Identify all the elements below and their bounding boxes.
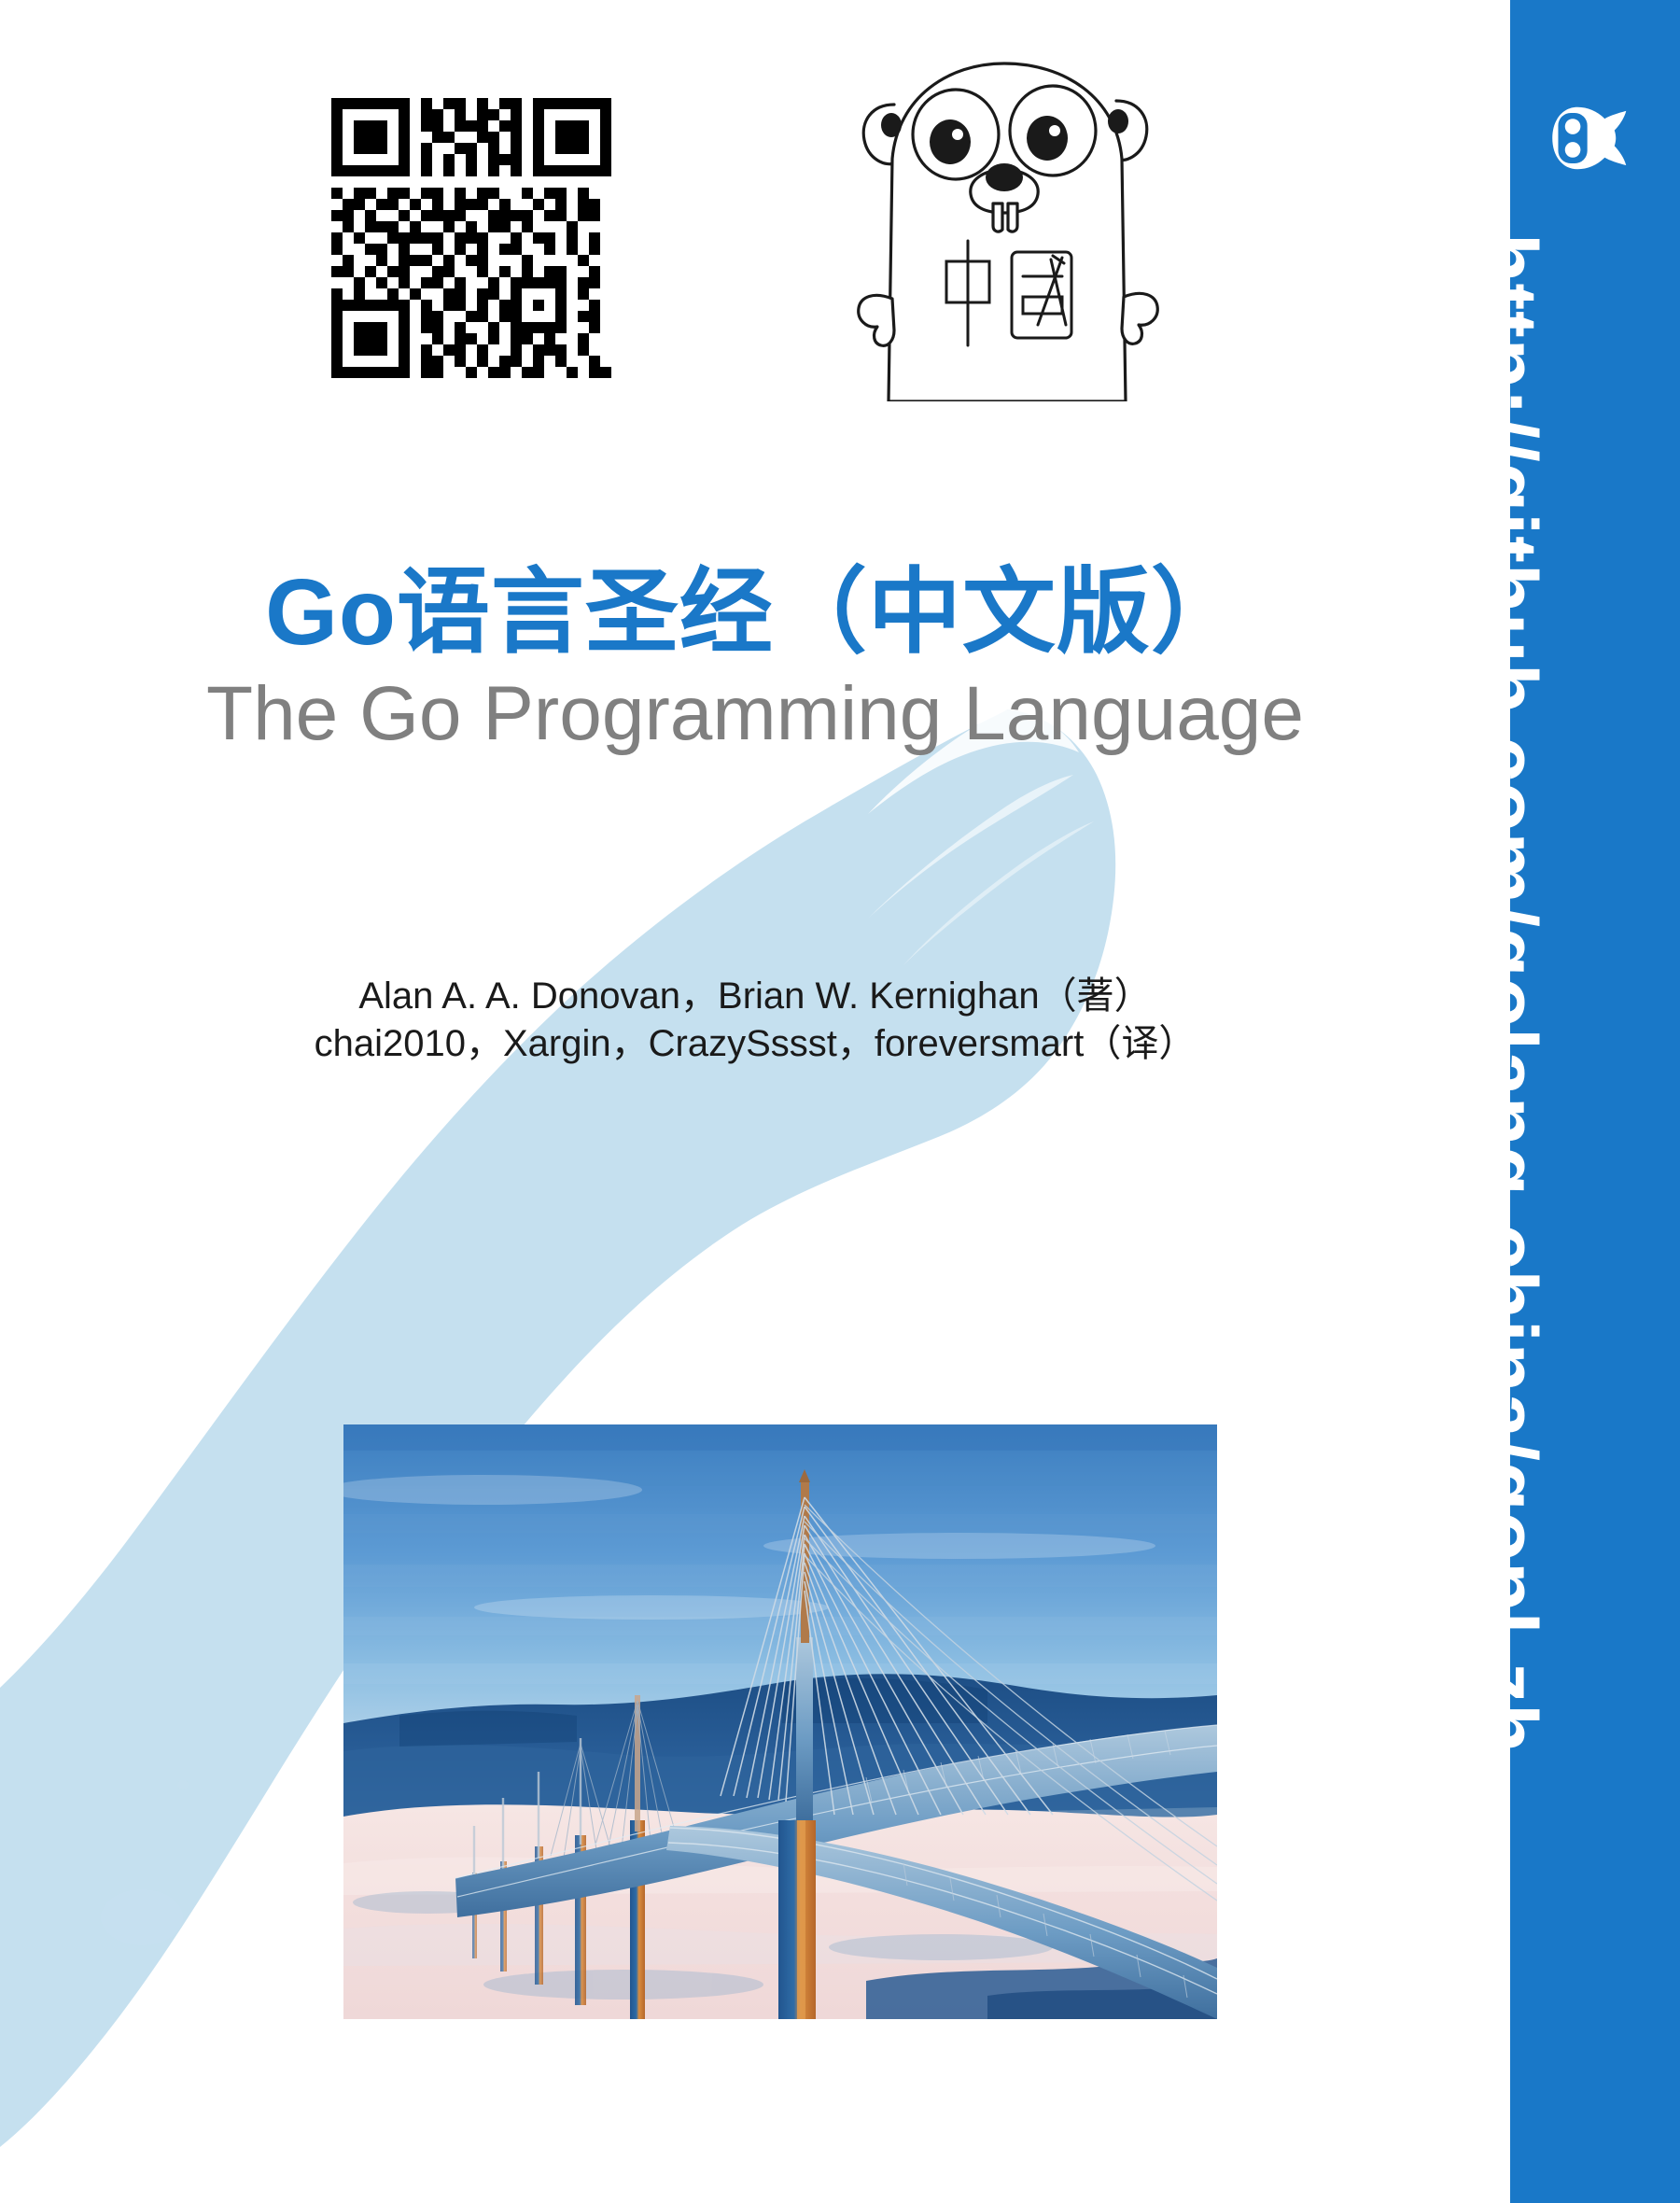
qr-code[interactable] bbox=[331, 98, 611, 378]
credits-block: Alan A. A. Donovan，Brian W. Kernighan（著）… bbox=[0, 973, 1510, 1068]
title-block: Go语言圣经（中文版） The Go Programming Language bbox=[0, 560, 1510, 758]
page-subtitle: The Go Programming Language bbox=[0, 670, 1510, 758]
cover-photo-millau-viaduct bbox=[343, 1424, 1217, 2019]
go-gopher-mascot-icon bbox=[840, 28, 1176, 401]
authors-line: Alan A. A. Donovan，Brian W. Kernighan（著） bbox=[0, 973, 1510, 1020]
translators-line: chai2010，Xargin，CrazySssst，foreversmart（… bbox=[0, 1020, 1510, 1068]
book-cover: Go语言圣经（中文版） The Go Programming Language … bbox=[0, 0, 1680, 2203]
github-banner: http://github.com/golang-china/gopl-zh bbox=[1510, 0, 1680, 2203]
octocat-icon[interactable] bbox=[1547, 90, 1644, 187]
github-url-label[interactable]: http://github.com/golang-china/gopl-zh bbox=[1462, 233, 1554, 2100]
page-title: Go语言圣经（中文版） bbox=[0, 560, 1510, 665]
